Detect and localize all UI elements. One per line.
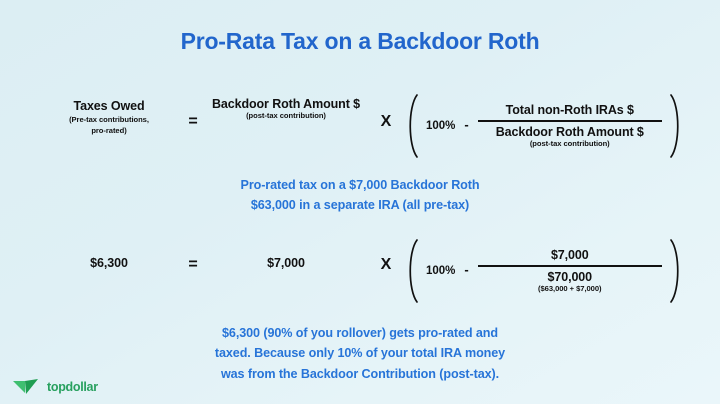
- bottom-note-line3: was from the Backdoor Contribution (post…: [0, 364, 720, 384]
- brand-logo: topdollar: [12, 378, 98, 395]
- close-paren-icon: [668, 93, 684, 159]
- symbolic-fraction: Total non-Roth IRAs $ Backdoor Roth Amou…: [478, 103, 662, 148]
- numeric-multiply-sign: X: [374, 256, 398, 274]
- symbolic-backdoor-amount-term: Backdoor Roth Amount $ (post-tax contrib…: [198, 97, 374, 120]
- numeric-parenthesized-group: 100% - $7,000 $70,000 ($63,000 + $7,000): [404, 238, 684, 304]
- symbolic-lhs-sub-line1: (Pre-tax contributions,: [69, 115, 149, 124]
- symbolic-fraction-denominator-sub: (post-tax contribution): [530, 139, 610, 148]
- bottom-note: $6,300 (90% of you rollover) gets pro-ra…: [0, 323, 720, 384]
- brand-logo-text: topdollar: [47, 380, 98, 394]
- close-paren-icon: [668, 238, 684, 304]
- symbolic-fraction-denominator-label: Backdoor Roth Amount $: [496, 125, 644, 139]
- symbolic-lhs-label: Taxes Owed: [73, 99, 144, 113]
- open-paren-icon: [404, 238, 420, 304]
- symbolic-fraction-numerator: Total non-Roth IRAs $: [506, 103, 634, 120]
- symbolic-fraction-denominator: Backdoor Roth Amount $ (post-tax contrib…: [496, 122, 644, 148]
- symbolic-paren-contents: 100% - Total non-Roth IRAs $ Backdoor Ro…: [420, 103, 668, 148]
- bottom-note-line2: taxed. Because only 10% of your total IR…: [0, 343, 720, 363]
- formula-row-numeric: $6,300 = $7,000 X 100% - $7,000 $70,: [0, 238, 720, 304]
- green-arrow-icon: [12, 378, 42, 395]
- numeric-fraction-numerator-label: $7,000: [551, 248, 589, 262]
- symbolic-backdoor-amount-sub: (post-tax contribution): [246, 111, 326, 120]
- middle-note-line2: $63,000 in a separate IRA (all pre-tax): [0, 196, 720, 216]
- symbolic-minus-sign: -: [464, 117, 468, 132]
- numeric-fraction-denominator-sub: ($63,000 + $7,000): [538, 284, 602, 293]
- middle-note: Pro-rated tax on a $7,000 Backdoor Roth …: [0, 176, 720, 215]
- bottom-note-line1: $6,300 (90% of you rollover) gets pro-ra…: [0, 323, 720, 343]
- numeric-fraction-denominator-label: $70,000: [548, 270, 593, 284]
- middle-note-line1: Pro-rated tax on a $7,000 Backdoor Roth: [0, 176, 720, 196]
- numeric-percent-label: 100%: [426, 265, 455, 277]
- symbolic-backdoor-amount-label: Backdoor Roth Amount $: [212, 97, 360, 111]
- symbolic-left-hand-side: Taxes Owed (Pre-tax contributions, pro-r…: [44, 93, 174, 159]
- symbolic-multiply-sign: X: [374, 113, 398, 131]
- numeric-fraction-denominator: $70,000 ($63,000 + $7,000): [538, 267, 602, 293]
- slide-canvas: Pro-Rata Tax on a Backdoor Roth Taxes Ow…: [0, 0, 720, 404]
- symbolic-percent-label: 100%: [426, 120, 455, 132]
- page-title: Pro-Rata Tax on a Backdoor Roth: [0, 28, 720, 55]
- numeric-backdoor-amount-value: $7,000: [198, 256, 374, 270]
- numeric-fraction: $7,000 $70,000 ($63,000 + $7,000): [478, 248, 662, 293]
- numeric-taxes-owed-value: $6,300: [44, 256, 174, 270]
- numeric-paren-contents: 100% - $7,000 $70,000 ($63,000 + $7,000): [420, 248, 668, 293]
- numeric-minus-sign: -: [464, 262, 468, 277]
- symbolic-lhs-sub-line2: pro-rated): [91, 126, 126, 135]
- symbolic-fraction-numerator-label: Total non-Roth IRAs $: [506, 103, 634, 117]
- numeric-fraction-numerator: $7,000: [551, 248, 589, 265]
- formula-row-symbolic: Taxes Owed (Pre-tax contributions, pro-r…: [0, 93, 720, 159]
- open-paren-icon: [404, 93, 420, 159]
- symbolic-parenthesized-group: 100% - Total non-Roth IRAs $ Backdoor Ro…: [404, 93, 684, 159]
